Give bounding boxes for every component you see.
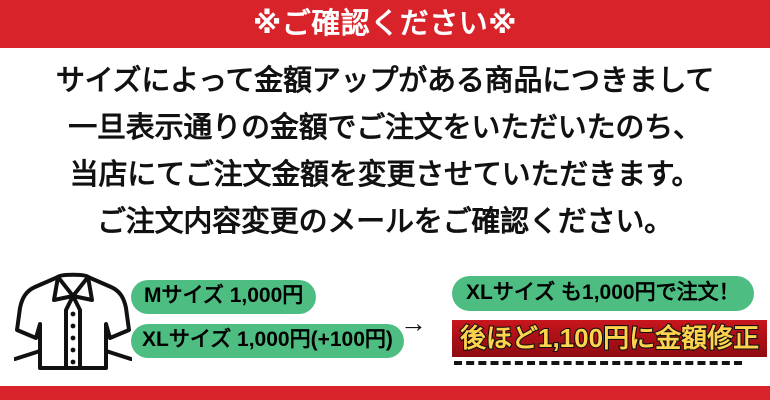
body-line-1: サイズによって金額アップがある商品につきまして [0,58,770,105]
before-price-group: Mサイズ 1,000円 XLサイズ 1,000円(+100円) [131,280,393,358]
price-correction-group: 後ほど1,100円に金額修正 [452,320,757,365]
notice-banner: ※ご確認ください※ サイズによって金額アップがある商品につきまして 一旦表示通り… [0,0,770,400]
right-arrow-icon: → [400,310,427,337]
price-pill-xl: XLサイズ 1,000円(+100円) [131,324,404,358]
body-line-2: 一旦表示通りの金額でご注文をいただいたのち、 [0,105,770,152]
header-bar: ※ご確認ください※ [0,0,770,48]
price-comparison-area: Mサイズ 1,000円 XLサイズ 1,000円(+100円) → XLサイズ … [0,262,770,384]
body-line-3: 当店にてご注文金額を変更させていただきます。 [0,152,770,199]
header-title: ※ご確認ください※ [253,10,517,39]
price-pill-m: Mサイズ 1,000円 [131,280,316,314]
body-text: サイズによって金額アップがある商品につきまして 一旦表示通りの金額でご注文をいた… [0,58,770,246]
price-correction-underline [454,361,742,365]
dress-shirt-icon [14,268,132,376]
after-price-group: XLサイズ も1,000円で注文！ 後ほど1,100円に金額修正 [452,276,757,365]
body-line-4: ご注文内容変更のメールをご確認ください。 [0,199,770,246]
price-pill-xl-ordered: XLサイズ も1,000円で注文！ [452,276,754,311]
footer-bar [0,386,770,400]
price-correction-text: 後ほど1,100円に金額修正 [452,320,767,357]
